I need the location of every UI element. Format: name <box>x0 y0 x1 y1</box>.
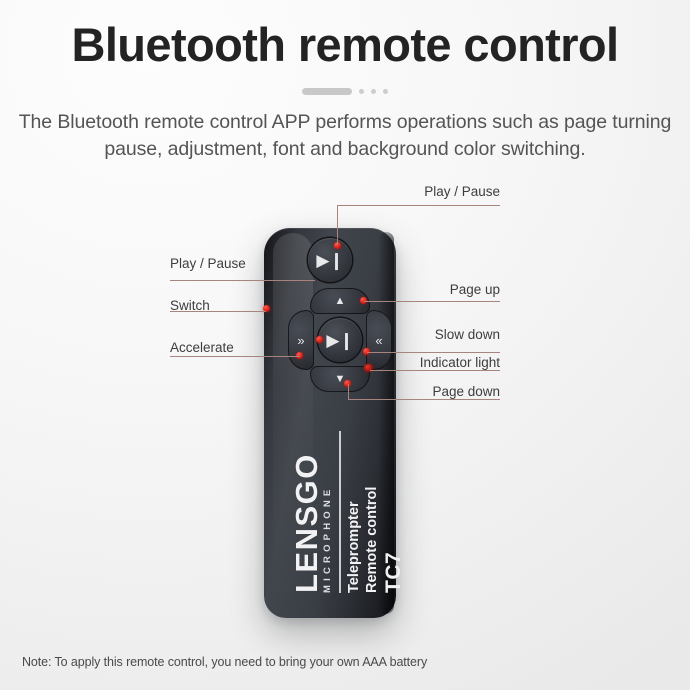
brand-divider-rule <box>339 431 341 593</box>
infographic-page: Bluetooth remote control The Bluetooth r… <box>0 0 690 690</box>
leader-line-left-play-pause <box>170 280 315 281</box>
fast-forward-icon: » <box>297 334 304 347</box>
device-branding: LENSGO MICROPHONE Teleprompter Remote co… <box>283 425 383 600</box>
leader-line-left-switch <box>170 311 266 312</box>
callout-right-page-down: Page down <box>350 384 500 399</box>
leader-line-right-play-pause-drop <box>337 205 338 245</box>
device-description: Teleprompter Remote control <box>345 487 381 593</box>
top-play-pause-button[interactable]: ▶❙ <box>308 238 352 282</box>
callout-left-accelerate: Accelerate <box>170 340 234 355</box>
brand-name: LENSGO <box>291 453 322 593</box>
leader-line-right-slow-down <box>367 352 500 353</box>
play-pause-icon: ▶❙ <box>316 252 343 269</box>
leader-line-right-page-down-drop <box>348 384 349 399</box>
callout-right-slow-down: Slow down <box>350 327 500 342</box>
callout-right-indicator-light: Indicator light <box>350 355 500 370</box>
leader-line-right-indicator-light <box>370 370 500 371</box>
footer-note: Note: To apply this remote control, you … <box>22 655 427 669</box>
leader-line-left-accelerate <box>170 356 300 357</box>
accelerate-button[interactable]: » <box>288 310 314 370</box>
remote-control-illustration: ▶❙ ▲ ▼ » « ▶❙ <box>0 0 690 690</box>
triangle-up-icon: ▲ <box>335 296 346 307</box>
callout-left-play-pause: Play / Pause <box>170 256 246 271</box>
leader-line-right-play-pause <box>337 205 500 206</box>
leader-line-right-page-up <box>364 301 500 302</box>
callout-right-play-pause: Play / Pause <box>340 184 500 199</box>
device-model: TC7 <box>383 552 404 593</box>
device-description-line1: Teleprompter <box>345 487 363 593</box>
device-description-line2: Remote control <box>363 487 381 593</box>
dot-center-play-pause <box>316 336 323 343</box>
callout-right-page-up: Page up <box>345 282 500 297</box>
brand-subtitle: MICROPHONE <box>323 486 333 593</box>
leader-line-right-page-down <box>348 399 500 400</box>
